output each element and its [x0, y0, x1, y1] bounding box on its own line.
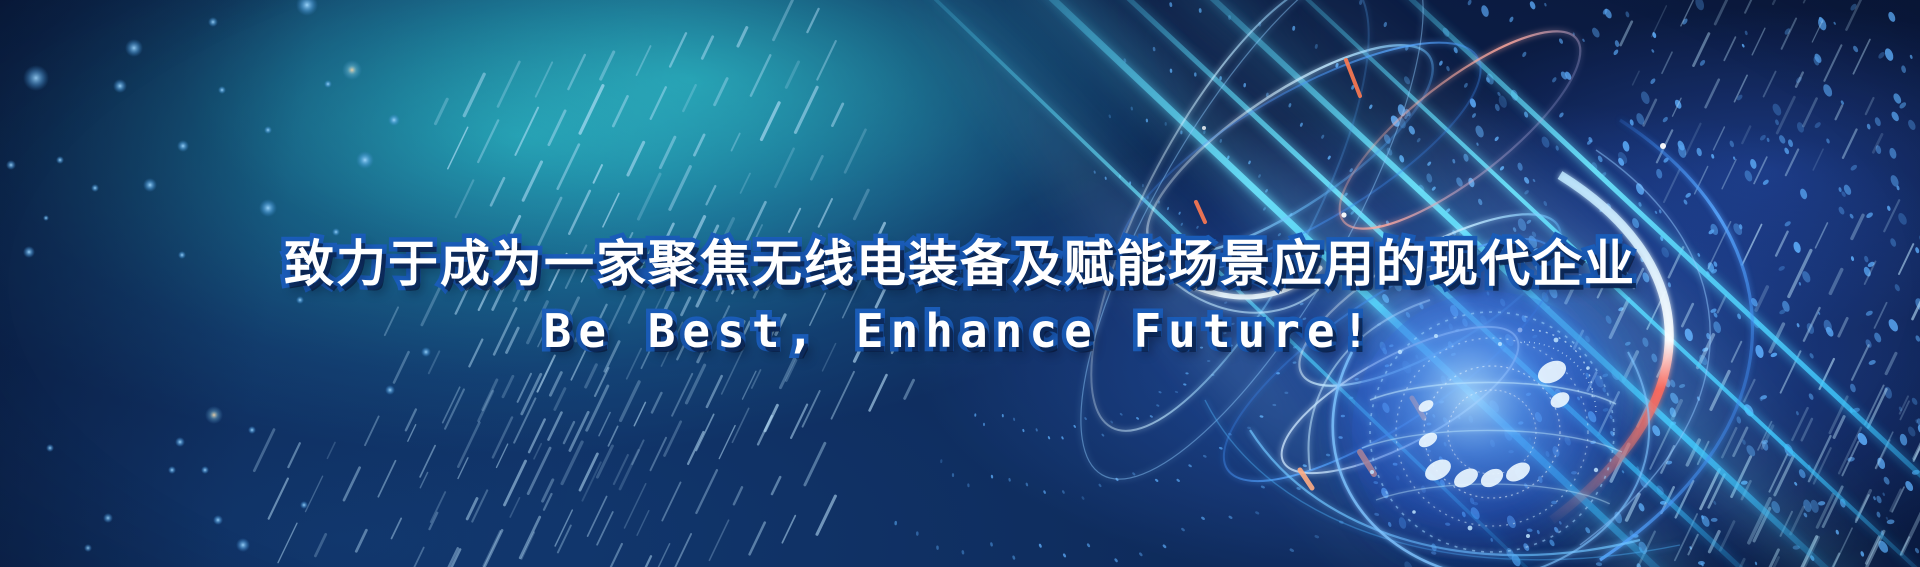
hero-banner: 致力于成为一家聚焦无线电装备及赋能场景应用的现代企业 Be Best, Enha… [0, 0, 1920, 567]
headline-chinese: 致力于成为一家聚焦无线电装备及赋能场景应用的现代企业 [0, 238, 1920, 291]
headline-block: 致力于成为一家聚焦无线电装备及赋能场景应用的现代企业 Be Best, Enha… [0, 238, 1920, 355]
headline-english: Be Best, Enhance Future! [0, 307, 1920, 355]
